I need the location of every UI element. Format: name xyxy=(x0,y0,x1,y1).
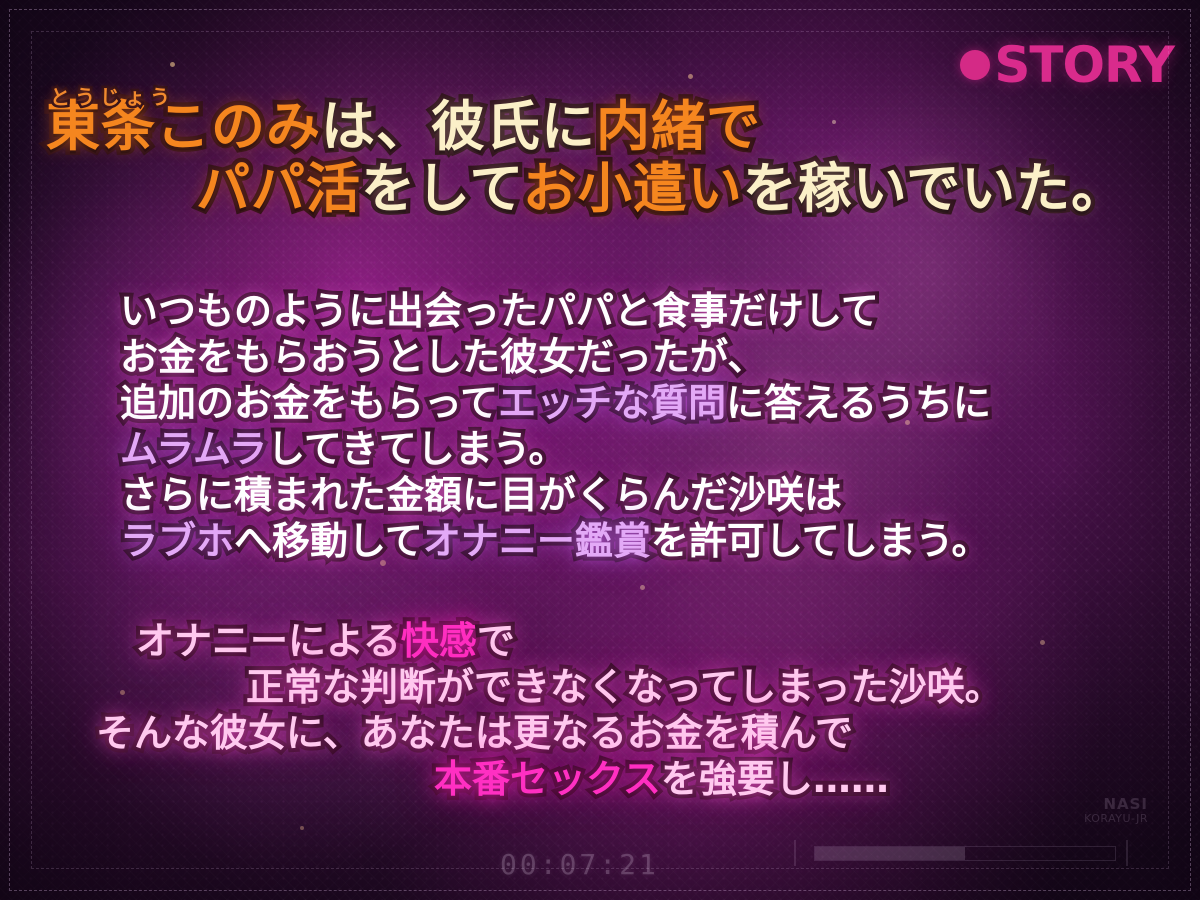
headline-run-papakatsu: パパ活 xyxy=(196,157,361,220)
story-run-highlight: ムラムラ xyxy=(120,427,267,471)
ruby-furigana: とうじょう xyxy=(50,66,175,128)
story-run-highlight: エッチな質問 xyxy=(498,381,726,425)
story-badge: STORY xyxy=(960,40,1174,90)
story-run: オナニーによる xyxy=(136,619,401,663)
story-panel: STORY とうじょう 東条このみ は、彼氏に内緒で パパ活をしてお小遣いを稼い… xyxy=(0,0,1200,900)
story-run-emphasis: 快感 xyxy=(401,619,477,663)
story-run: 正常な判断ができなくなってしまった沙咲。 xyxy=(246,665,1003,709)
story-run: お金をもらおうとした彼女だったが、 xyxy=(120,335,765,379)
story-run: してきてしまう。 xyxy=(267,427,566,471)
headline-run-plain2: をして xyxy=(361,157,523,220)
bullet-dot-icon xyxy=(960,50,990,80)
ghost-progress-bar[interactable] xyxy=(814,846,1116,861)
story-run: で xyxy=(477,619,515,663)
story-line: 本番セックスを強要し…… xyxy=(96,756,1003,802)
story-run: に答えるうちに xyxy=(726,381,991,425)
story-run: へ移動して xyxy=(234,519,423,563)
story-line: そんな彼女に、あなたは更なるお金を積んで xyxy=(96,710,1003,756)
headline: とうじょう 東条このみ は、彼氏に内緒で パパ活をしてお小遣いを稼いでいた。 xyxy=(0,96,1200,220)
story-run: いつものように出会ったパパと食事だけして xyxy=(120,289,879,333)
story-paragraph-1: いつものように出会ったパパと食事だけして お金をもらおうとした彼女だったが、 追… xyxy=(120,288,991,564)
story-line: 正常な判断ができなくなってしまった沙咲。 xyxy=(96,664,1003,710)
story-run: を許可してしまう。 xyxy=(651,519,990,563)
story-line: お金をもらおうとした彼女だったが、 xyxy=(120,334,991,380)
story-line: 追加のお金をもらってエッチな質問に答えるうちに xyxy=(120,380,991,426)
headline-run-plain3: を稼いでいた。 xyxy=(743,157,1126,220)
headline-run-okozukai: お小遣い xyxy=(523,157,743,220)
story-badge-label: STORY xyxy=(994,40,1174,90)
headline-run-highlight: 内緒で xyxy=(596,95,761,158)
story-run-emphasis: 本番セックス xyxy=(434,757,661,801)
story-paragraph-2: オナニーによる快感で 正常な判断ができなくなってしまった沙咲。 そんな彼女に、あ… xyxy=(96,618,1003,802)
ruby-group: とうじょう 東条このみ xyxy=(46,96,321,158)
story-line: さらに積まれた金額に目がくらんだ沙咲は xyxy=(120,472,991,518)
story-run-highlight: ラブホ xyxy=(120,519,234,563)
ghost-watermark-line-1: NASI xyxy=(1084,796,1148,813)
story-run: さらに積まれた金額に目がくらんだ沙咲は xyxy=(120,473,842,517)
story-line: ムラムラしてきてしまう。 xyxy=(120,426,991,472)
story-line: ラブホへ移動してオナニー鑑賞を許可してしまう。 xyxy=(120,518,991,564)
story-run: そんな彼女に、あなたは更なるお金を積んで xyxy=(96,711,853,755)
ghost-watermark: NASI KORAYU-JR xyxy=(1084,796,1148,826)
story-run-highlight: オナニー鑑賞 xyxy=(423,519,651,563)
ghost-watermark-line-2: KORAYU-JR xyxy=(1084,813,1148,826)
video-timecode: 00:07:21 xyxy=(500,848,659,881)
headline-line-1: とうじょう 東条このみ は、彼氏に内緒で xyxy=(0,96,1200,158)
story-line: オナニーによる快感で xyxy=(96,618,1003,664)
story-line: いつものように出会ったパパと食事だけして xyxy=(120,288,991,334)
story-run: 追加のお金をもらって xyxy=(120,381,498,425)
ghost-progress-fill xyxy=(815,847,965,860)
story-run: を強要し…… xyxy=(661,757,889,801)
headline-line-2: パパ活をしてお小遣いを稼いでいた。 xyxy=(0,158,1200,220)
headline-run-plain: は、彼氏に xyxy=(321,95,596,158)
